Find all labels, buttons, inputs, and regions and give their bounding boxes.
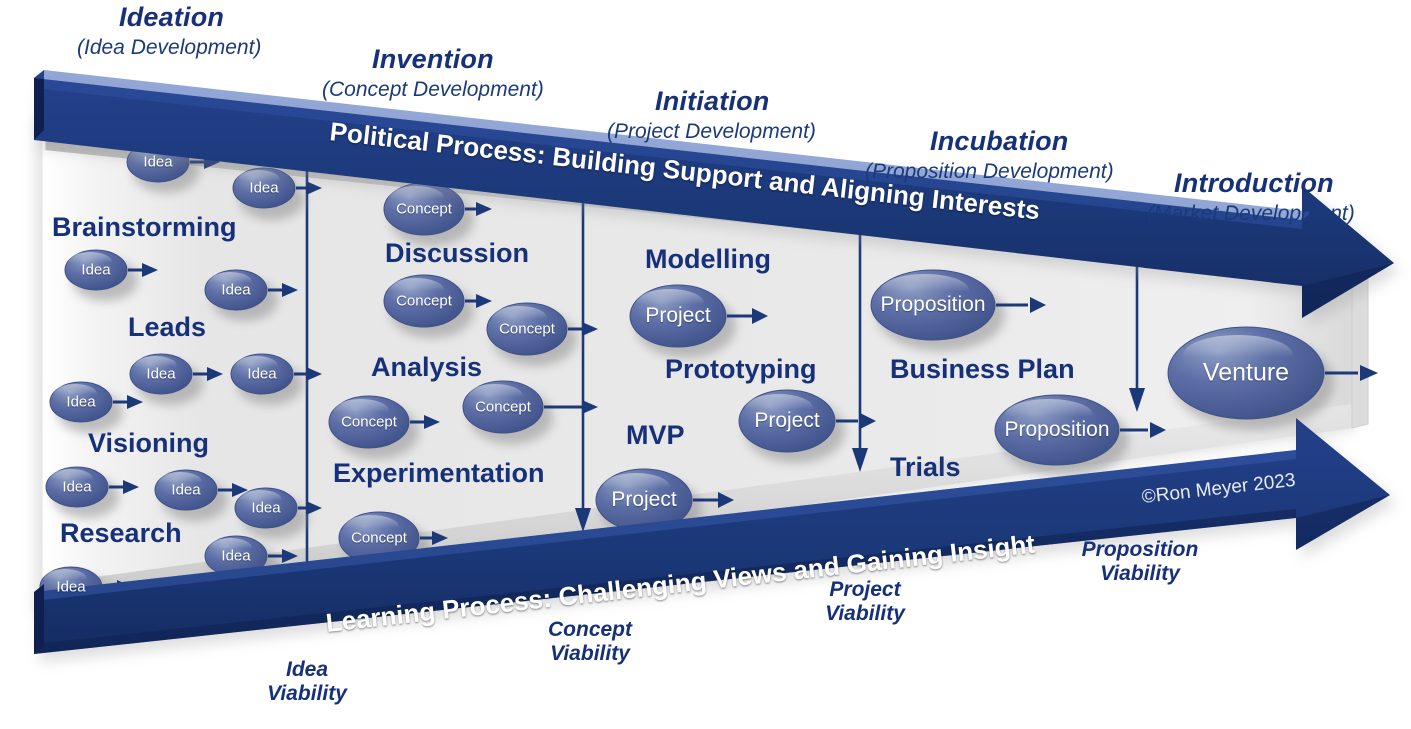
- stage-title-invention: Invention: [372, 44, 494, 75]
- stage-subtitle-introduction: (Market Development): [1147, 202, 1355, 226]
- activity-brainstorming: Brainstorming: [52, 212, 237, 243]
- innovation-funnel-diagram: Ideation (Idea Development) Invention (C…: [0, 0, 1411, 729]
- stage-subtitle-ideation: (Idea Development): [77, 36, 261, 60]
- gate-line1: Concept: [548, 618, 632, 641]
- activity-analysis: Analysis: [371, 352, 482, 383]
- stage-subtitle-initiation: (Project Development): [607, 120, 816, 144]
- gate-line2: Viability: [550, 642, 630, 665]
- gate-line1: Project: [829, 578, 900, 601]
- activity-trials: Trials: [890, 452, 961, 483]
- gate-line1: Proposition: [1082, 538, 1199, 561]
- activity-modelling: Modelling: [645, 244, 771, 275]
- activity-business-plan: Business Plan: [890, 354, 1075, 385]
- activity-prototyping: Prototyping: [665, 354, 816, 385]
- gate-label-concept-viability: Concept Viability: [525, 618, 655, 665]
- stage-title-incubation: Incubation: [930, 126, 1069, 157]
- gate-label-idea-viability: Idea Viability: [247, 658, 367, 705]
- gate-line2: Viability: [1100, 562, 1180, 585]
- stage-title-ideation: Ideation: [119, 2, 224, 33]
- activity-discussion: Discussion: [385, 238, 529, 269]
- activity-visioning: Visioning: [88, 428, 209, 459]
- gate-line2: Viability: [825, 602, 905, 625]
- stage-title-introduction: Introduction: [1174, 168, 1334, 199]
- gate-line2: Viability: [267, 682, 347, 705]
- gate-label-project-viability: Project Viability: [800, 578, 930, 625]
- stage-title-initiation: Initiation: [655, 86, 769, 117]
- activity-mvp: MVP: [626, 420, 685, 451]
- activity-experimentation: Experimentation: [333, 458, 545, 489]
- activity-research: Research: [60, 518, 182, 549]
- gate-line1: Idea: [286, 658, 328, 681]
- activity-leads: Leads: [128, 312, 206, 343]
- stage-subtitle-invention: (Concept Development): [322, 78, 544, 102]
- gate-label-proposition-viability: Proposition Viability: [1055, 538, 1225, 585]
